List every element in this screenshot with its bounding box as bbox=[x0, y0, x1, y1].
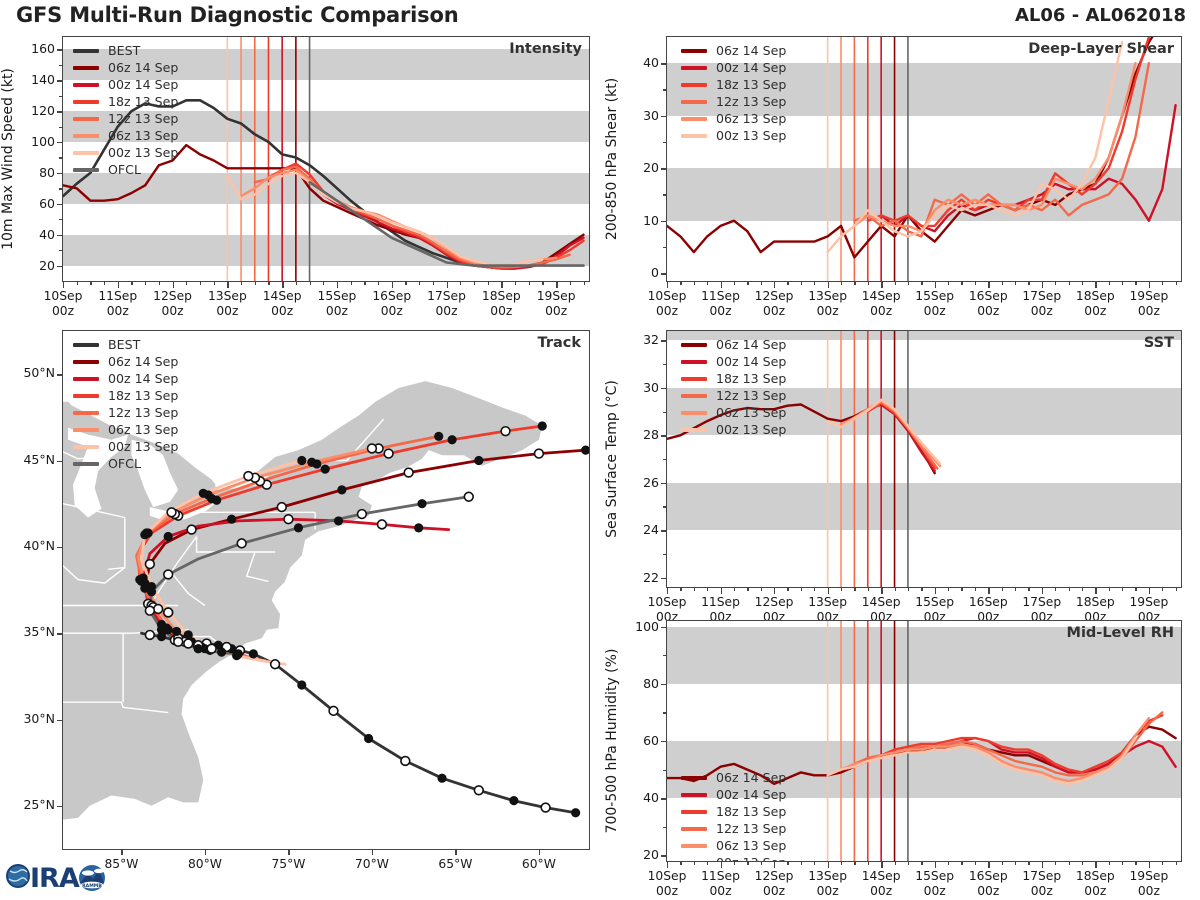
panel-title-shear: Deep-Layer Shear bbox=[1028, 41, 1174, 57]
y-tick-label: 140 bbox=[10, 72, 55, 87]
legend-item[interactable]: 06z 13 Sep bbox=[681, 110, 786, 127]
track-point-filled bbox=[140, 530, 149, 539]
y-tick-label: 100 bbox=[614, 619, 659, 634]
legend-item[interactable]: 00z 13 Sep bbox=[681, 421, 786, 438]
legend-track: BEST06z 14 Sep00z 14 Sep18z 13 Sep12z 13… bbox=[73, 336, 178, 472]
x-tick bbox=[774, 587, 775, 594]
x-minor-tick bbox=[975, 587, 976, 591]
track-point-filled bbox=[217, 648, 226, 657]
series-line bbox=[227, 173, 542, 266]
track-point-filled bbox=[321, 465, 330, 474]
x-minor-tick bbox=[378, 281, 379, 285]
track-point-filled bbox=[294, 523, 303, 532]
y-tick bbox=[57, 235, 63, 236]
y-axis-label: 700-500 hPa Humidity (%) bbox=[604, 649, 620, 834]
track-point-open bbox=[174, 637, 183, 646]
x-minor-tick bbox=[948, 861, 949, 865]
legend-item[interactable]: 06z 14 Sep bbox=[681, 336, 786, 353]
x-minor-tick bbox=[761, 281, 762, 285]
x-tick bbox=[881, 587, 882, 594]
legend-item[interactable]: 12z 13 Sep bbox=[73, 110, 178, 127]
x-minor-tick bbox=[680, 587, 681, 591]
x-minor-tick bbox=[1069, 587, 1070, 591]
legend-swatch bbox=[681, 83, 707, 87]
y-tick-label: 20 bbox=[614, 847, 659, 862]
x-minor-tick bbox=[584, 281, 585, 285]
x-minor-tick bbox=[747, 861, 748, 865]
y-tick-label: 40 bbox=[614, 790, 659, 805]
y-tick-label: 40 bbox=[614, 55, 659, 70]
x-tick bbox=[828, 587, 829, 594]
track-point-filled bbox=[417, 499, 426, 508]
legend-item[interactable]: 00z 14 Sep bbox=[73, 370, 178, 387]
lat-tick bbox=[57, 633, 63, 634]
legend-item[interactable]: 12z 13 Sep bbox=[681, 387, 786, 404]
x-minor-tick bbox=[310, 281, 311, 285]
y-tick-label: 120 bbox=[10, 103, 55, 118]
legend-swatch bbox=[681, 776, 707, 780]
track-point-open bbox=[541, 803, 550, 812]
x-minor-tick bbox=[419, 281, 420, 285]
x-tick bbox=[1095, 587, 1096, 594]
x-tick bbox=[881, 861, 882, 868]
x-minor-tick bbox=[908, 861, 909, 865]
y-tick bbox=[57, 80, 63, 81]
y-tick bbox=[661, 578, 667, 579]
x-tick bbox=[227, 281, 228, 288]
y-tick bbox=[57, 111, 63, 112]
y-tick-label: 28 bbox=[614, 427, 659, 442]
y-tick bbox=[661, 530, 667, 531]
lat-tick-label: 30°N bbox=[2, 711, 55, 726]
track-point-open bbox=[145, 630, 154, 639]
x-minor-tick bbox=[895, 281, 896, 285]
series-line bbox=[868, 715, 1163, 772]
track-point-open bbox=[464, 492, 473, 501]
x-minor-tick bbox=[268, 281, 269, 285]
legend-item[interactable]: 06z 14 Sep bbox=[73, 59, 178, 76]
panel-title-rh: Mid-Level RH bbox=[1067, 625, 1174, 641]
lon-tick-label: 60°W bbox=[505, 857, 573, 872]
y-tick-label: 20 bbox=[614, 160, 659, 175]
legend-item[interactable]: 00z 13 Sep bbox=[681, 127, 786, 144]
panel-sst: SST06z 14 Sep00z 14 Sep18z 13 Sep12z 13 … bbox=[666, 330, 1182, 588]
legend-label: 18z 13 Sep bbox=[716, 803, 786, 820]
x-minor-tick bbox=[680, 861, 681, 865]
legend-item[interactable]: 12z 13 Sep bbox=[681, 93, 786, 110]
legend-item[interactable]: 06z 13 Sep bbox=[681, 837, 786, 854]
x-minor-tick bbox=[255, 281, 256, 285]
x-minor-tick bbox=[1002, 861, 1003, 865]
y-minor-tick bbox=[663, 364, 667, 365]
x-tick bbox=[1042, 281, 1043, 288]
y-tick-label: 24 bbox=[614, 522, 659, 537]
x-tick bbox=[828, 861, 829, 868]
y-minor-tick bbox=[663, 770, 667, 771]
y-tick bbox=[57, 49, 63, 50]
panel-track: TrackBEST06z 14 Sep00z 14 Sep18z 13 Sep1… bbox=[62, 330, 590, 850]
x-tick bbox=[392, 281, 393, 288]
svg-text:RAMMB: RAMMB bbox=[82, 883, 102, 889]
track-point-open bbox=[277, 503, 286, 512]
x-tick bbox=[774, 281, 775, 288]
x-minor-tick bbox=[104, 281, 105, 285]
legend-item[interactable]: 18z 13 Sep bbox=[681, 370, 786, 387]
x-minor-tick bbox=[433, 281, 434, 285]
legend-item[interactable]: 18z 13 Sep bbox=[73, 387, 178, 404]
track-point-filled bbox=[434, 432, 443, 441]
x-tick bbox=[1042, 587, 1043, 594]
x-tick bbox=[447, 281, 448, 288]
x-minor-tick bbox=[921, 587, 922, 591]
y-minor-tick bbox=[59, 157, 63, 158]
x-minor-tick bbox=[747, 281, 748, 285]
x-minor-tick bbox=[186, 281, 187, 285]
lat-tick-label: 45°N bbox=[2, 452, 55, 467]
x-tick bbox=[935, 587, 936, 594]
track-point-filled bbox=[199, 489, 208, 498]
x-minor-tick bbox=[131, 281, 132, 285]
track-point-filled bbox=[334, 516, 343, 525]
x-tick bbox=[988, 587, 989, 594]
x-minor-tick bbox=[761, 587, 762, 591]
legend-item[interactable]: 12z 13 Sep bbox=[73, 404, 178, 421]
x-minor-tick bbox=[1176, 281, 1177, 285]
legend-swatch bbox=[73, 83, 99, 87]
x-minor-tick bbox=[868, 587, 869, 591]
lon-tick-label: 75°W bbox=[254, 857, 322, 872]
lon-tick bbox=[288, 849, 289, 855]
x-minor-tick bbox=[680, 281, 681, 285]
x-minor-tick bbox=[694, 281, 695, 285]
legend-label: 00z 13 Sep bbox=[108, 438, 178, 455]
track-point-filled bbox=[297, 680, 306, 689]
legend-item[interactable]: 00z 13 Sep bbox=[681, 854, 786, 862]
legend-swatch bbox=[681, 394, 707, 398]
x-minor-tick bbox=[90, 281, 91, 285]
legend-item[interactable]: OFCL bbox=[73, 455, 178, 472]
legend-label: 06z 14 Sep bbox=[716, 42, 786, 59]
y-axis-label: Sea Surface Temp (°C) bbox=[604, 380, 620, 538]
storm-id-label: AL06 - AL062018 bbox=[1015, 5, 1186, 26]
legend-label: 12z 13 Sep bbox=[108, 110, 178, 127]
track-point-open bbox=[404, 468, 413, 477]
x-tick-label: 19Sep00z bbox=[1115, 289, 1183, 318]
x-minor-tick bbox=[734, 587, 735, 591]
x-minor-tick bbox=[1162, 861, 1163, 865]
y-tick-label: 40 bbox=[10, 227, 55, 242]
y-tick bbox=[661, 116, 667, 117]
lat-tick-label: 25°N bbox=[2, 797, 55, 812]
legend-label: 18z 13 Sep bbox=[108, 93, 178, 110]
y-tick bbox=[661, 741, 667, 742]
legend-item[interactable]: 06z 14 Sep bbox=[73, 353, 178, 370]
track-point-open bbox=[237, 539, 246, 548]
y-tick bbox=[57, 266, 63, 267]
lon-tick bbox=[455, 849, 456, 855]
legend-label: 12z 13 Sep bbox=[108, 404, 178, 421]
y-minor-tick bbox=[59, 65, 63, 66]
legend-rh: 06z 14 Sep00z 14 Sep18z 13 Sep12z 13 Sep… bbox=[681, 769, 786, 862]
y-minor-tick bbox=[59, 219, 63, 220]
y-minor-tick bbox=[663, 247, 667, 248]
y-tick-label: 60 bbox=[614, 733, 659, 748]
x-minor-tick bbox=[1002, 587, 1003, 591]
legend-item[interactable]: 00z 13 Sep bbox=[73, 144, 178, 161]
y-tick-label: 20 bbox=[10, 258, 55, 273]
panel-rh: Mid-Level RH06z 14 Sep00z 14 Sep18z 13 S… bbox=[666, 620, 1182, 862]
x-minor-tick bbox=[707, 281, 708, 285]
legend-label: 00z 14 Sep bbox=[716, 59, 786, 76]
x-minor-tick bbox=[1028, 861, 1029, 865]
x-tick bbox=[828, 281, 829, 288]
x-minor-tick bbox=[1082, 861, 1083, 865]
legend-swatch bbox=[681, 810, 707, 814]
legend-label: 06z 13 Sep bbox=[108, 421, 178, 438]
x-minor-tick bbox=[975, 861, 976, 865]
track-point-filled bbox=[307, 458, 316, 467]
x-minor-tick bbox=[1135, 587, 1136, 591]
lat-tick bbox=[57, 374, 63, 375]
x-minor-tick bbox=[1069, 861, 1070, 865]
track-point-open bbox=[164, 608, 173, 617]
legend-swatch bbox=[681, 428, 707, 432]
x-tick bbox=[1149, 861, 1150, 868]
x-minor-tick bbox=[787, 587, 788, 591]
x-minor-tick bbox=[854, 587, 855, 591]
x-minor-tick bbox=[961, 861, 962, 865]
legend-label: 18z 13 Sep bbox=[716, 76, 786, 93]
track-point-open bbox=[368, 444, 377, 453]
x-minor-tick bbox=[488, 281, 489, 285]
x-minor-tick bbox=[854, 281, 855, 285]
x-minor-tick bbox=[801, 587, 802, 591]
x-tick bbox=[988, 281, 989, 288]
y-minor-tick bbox=[663, 827, 667, 828]
y-minor-tick bbox=[663, 459, 667, 460]
x-minor-tick bbox=[460, 281, 461, 285]
legend-swatch bbox=[73, 411, 99, 415]
y-tick-label: 32 bbox=[614, 332, 659, 347]
y-minor-tick bbox=[59, 96, 63, 97]
y-tick bbox=[661, 855, 667, 856]
legend-label: 00z 14 Sep bbox=[716, 786, 786, 803]
track-point-filled bbox=[157, 625, 166, 634]
x-minor-tick bbox=[1082, 587, 1083, 591]
legend-item[interactable]: 00z 14 Sep bbox=[73, 76, 178, 93]
legend-label: 00z 13 Sep bbox=[716, 854, 786, 862]
legend-label: 00z 13 Sep bbox=[716, 421, 786, 438]
legend-item[interactable]: BEST bbox=[73, 336, 178, 353]
y-minor-tick bbox=[663, 89, 667, 90]
legend-label: OFCL bbox=[108, 455, 141, 472]
y-tick-label: 100 bbox=[10, 134, 55, 149]
legend-swatch bbox=[681, 49, 707, 53]
y-tick-label: 80 bbox=[614, 676, 659, 691]
track-point-filled bbox=[147, 587, 156, 596]
x-minor-tick bbox=[1162, 281, 1163, 285]
legend-label: 00z 13 Sep bbox=[716, 127, 786, 144]
x-tick-label: 19Sep00z bbox=[522, 289, 590, 318]
legend-swatch bbox=[681, 377, 707, 381]
x-minor-tick bbox=[734, 281, 735, 285]
x-minor-tick bbox=[515, 281, 516, 285]
track-point-filled bbox=[227, 515, 236, 524]
legend-item[interactable]: 18z 13 Sep bbox=[73, 93, 178, 110]
legend-item[interactable]: 06z 13 Sep bbox=[73, 127, 178, 144]
legend-swatch bbox=[73, 462, 99, 466]
legend-label: 12z 13 Sep bbox=[716, 820, 786, 837]
legend-sst: 06z 14 Sep00z 14 Sep18z 13 Sep12z 13 Sep… bbox=[681, 336, 786, 438]
y-tick-label: 10 bbox=[614, 213, 659, 228]
x-minor-tick bbox=[1109, 861, 1110, 865]
track-point-filled bbox=[437, 774, 446, 783]
x-tick bbox=[337, 281, 338, 288]
legend-swatch bbox=[73, 117, 99, 121]
x-minor-tick bbox=[1015, 861, 1016, 865]
y-minor-tick bbox=[663, 412, 667, 413]
x-tick bbox=[501, 281, 502, 288]
y-tick bbox=[57, 142, 63, 143]
x-minor-tick bbox=[1055, 861, 1056, 865]
x-minor-tick bbox=[542, 281, 543, 285]
x-minor-tick bbox=[474, 281, 475, 285]
legend-swatch bbox=[73, 360, 99, 364]
panel-intensity: IntensityBEST06z 14 Sep00z 14 Sep18z 13 … bbox=[62, 36, 590, 282]
track-point-filled bbox=[232, 651, 241, 660]
x-minor-tick bbox=[1176, 587, 1177, 591]
track-point-filled bbox=[581, 446, 590, 455]
legend-item[interactable]: 18z 13 Sep bbox=[681, 803, 786, 820]
x-minor-tick bbox=[734, 861, 735, 865]
y-tick bbox=[661, 798, 667, 799]
y-tick-label: 0 bbox=[614, 265, 659, 280]
x-minor-tick bbox=[296, 281, 297, 285]
y-tick bbox=[661, 435, 667, 436]
x-minor-tick bbox=[1069, 281, 1070, 285]
x-tick bbox=[1095, 281, 1096, 288]
x-minor-tick bbox=[948, 281, 949, 285]
x-minor-tick bbox=[895, 587, 896, 591]
x-minor-tick bbox=[405, 281, 406, 285]
x-minor-tick bbox=[1028, 281, 1029, 285]
x-tick bbox=[1095, 861, 1096, 868]
x-minor-tick bbox=[1109, 281, 1110, 285]
y-tick bbox=[661, 684, 667, 685]
legend-swatch bbox=[73, 377, 99, 381]
x-tick bbox=[667, 587, 668, 594]
x-minor-tick bbox=[814, 861, 815, 865]
track-point-open bbox=[329, 706, 338, 715]
legend-label: 12z 13 Sep bbox=[716, 93, 786, 110]
x-tick bbox=[881, 281, 882, 288]
x-tick bbox=[988, 861, 989, 868]
x-minor-tick bbox=[77, 281, 78, 285]
legend-swatch bbox=[73, 66, 99, 70]
x-minor-tick bbox=[145, 281, 146, 285]
y-minor-tick bbox=[663, 655, 667, 656]
x-tick bbox=[721, 587, 722, 594]
y-tick-label: 26 bbox=[614, 475, 659, 490]
x-minor-tick bbox=[895, 861, 896, 865]
legend-label: 00z 14 Sep bbox=[716, 353, 786, 370]
legend-item[interactable]: OFCL bbox=[73, 161, 178, 178]
series-line bbox=[241, 170, 556, 266]
legend-item[interactable]: 12z 13 Sep bbox=[681, 820, 786, 837]
legend-item[interactable]: 00z 14 Sep bbox=[681, 353, 786, 370]
x-minor-tick bbox=[841, 281, 842, 285]
lon-tick-label: 70°W bbox=[338, 857, 406, 872]
legend-label: 00z 14 Sep bbox=[108, 76, 178, 93]
legend-item[interactable]: BEST bbox=[73, 42, 178, 59]
lon-tick bbox=[205, 849, 206, 855]
x-minor-tick bbox=[814, 281, 815, 285]
x-minor-tick bbox=[694, 861, 695, 865]
legend-swatch bbox=[73, 343, 99, 347]
legend-swatch bbox=[681, 66, 707, 70]
legend-item[interactable]: 06z 14 Sep bbox=[681, 769, 786, 786]
svg-text:IRA: IRA bbox=[30, 863, 80, 894]
x-minor-tick bbox=[1122, 587, 1123, 591]
legend-item[interactable]: 18z 13 Sep bbox=[681, 76, 786, 93]
legend-swatch bbox=[681, 844, 707, 848]
y-tick-label: 30 bbox=[614, 108, 659, 123]
track-point-open bbox=[378, 520, 387, 529]
x-minor-tick bbox=[200, 281, 201, 285]
legend-swatch bbox=[681, 360, 707, 364]
legend-item[interactable]: 00z 14 Sep bbox=[681, 59, 786, 76]
x-minor-tick bbox=[908, 587, 909, 591]
legend-swatch bbox=[73, 100, 99, 104]
lon-tick bbox=[372, 849, 373, 855]
x-minor-tick bbox=[1082, 281, 1083, 285]
legend-item[interactable]: 06z 13 Sep bbox=[73, 421, 178, 438]
legend-swatch bbox=[681, 793, 707, 797]
x-minor-tick bbox=[921, 861, 922, 865]
lat-tick-label: 40°N bbox=[2, 538, 55, 553]
y-tick bbox=[661, 221, 667, 222]
legend-label: 06z 14 Sep bbox=[108, 353, 178, 370]
lat-tick-label: 35°N bbox=[2, 624, 55, 639]
legend-label: 06z 13 Sep bbox=[716, 404, 786, 421]
series-line bbox=[881, 105, 1175, 231]
legend-swatch bbox=[73, 445, 99, 449]
y-minor-tick bbox=[59, 250, 63, 251]
legend-item[interactable]: 00z 14 Sep bbox=[681, 786, 786, 803]
legend-item[interactable]: 06z 13 Sep bbox=[681, 404, 786, 421]
x-minor-tick bbox=[841, 861, 842, 865]
y-axis-label: 10m Max Wind Speed (kt) bbox=[0, 68, 16, 250]
y-tick bbox=[661, 388, 667, 389]
track-point-filled bbox=[474, 456, 483, 465]
track-point-open bbox=[358, 510, 367, 519]
x-minor-tick bbox=[694, 587, 695, 591]
track-point-open bbox=[187, 525, 196, 534]
panel-shear: Deep-Layer Shear06z 14 Sep00z 14 Sep18z … bbox=[666, 36, 1182, 282]
x-minor-tick bbox=[1109, 587, 1110, 591]
x-minor-tick bbox=[787, 281, 788, 285]
y-minor-tick bbox=[663, 712, 667, 713]
y-minor-tick bbox=[59, 188, 63, 189]
x-minor-tick bbox=[364, 281, 365, 285]
legend-item[interactable]: 00z 13 Sep bbox=[73, 438, 178, 455]
y-tick-label: 30 bbox=[614, 380, 659, 395]
track-point-open bbox=[167, 508, 176, 517]
legend-label: BEST bbox=[108, 42, 140, 59]
lat-tick bbox=[57, 461, 63, 462]
legend-shear: 06z 14 Sep00z 14 Sep18z 13 Sep12z 13 Sep… bbox=[681, 42, 786, 144]
legend-item[interactable]: 06z 14 Sep bbox=[681, 42, 786, 59]
